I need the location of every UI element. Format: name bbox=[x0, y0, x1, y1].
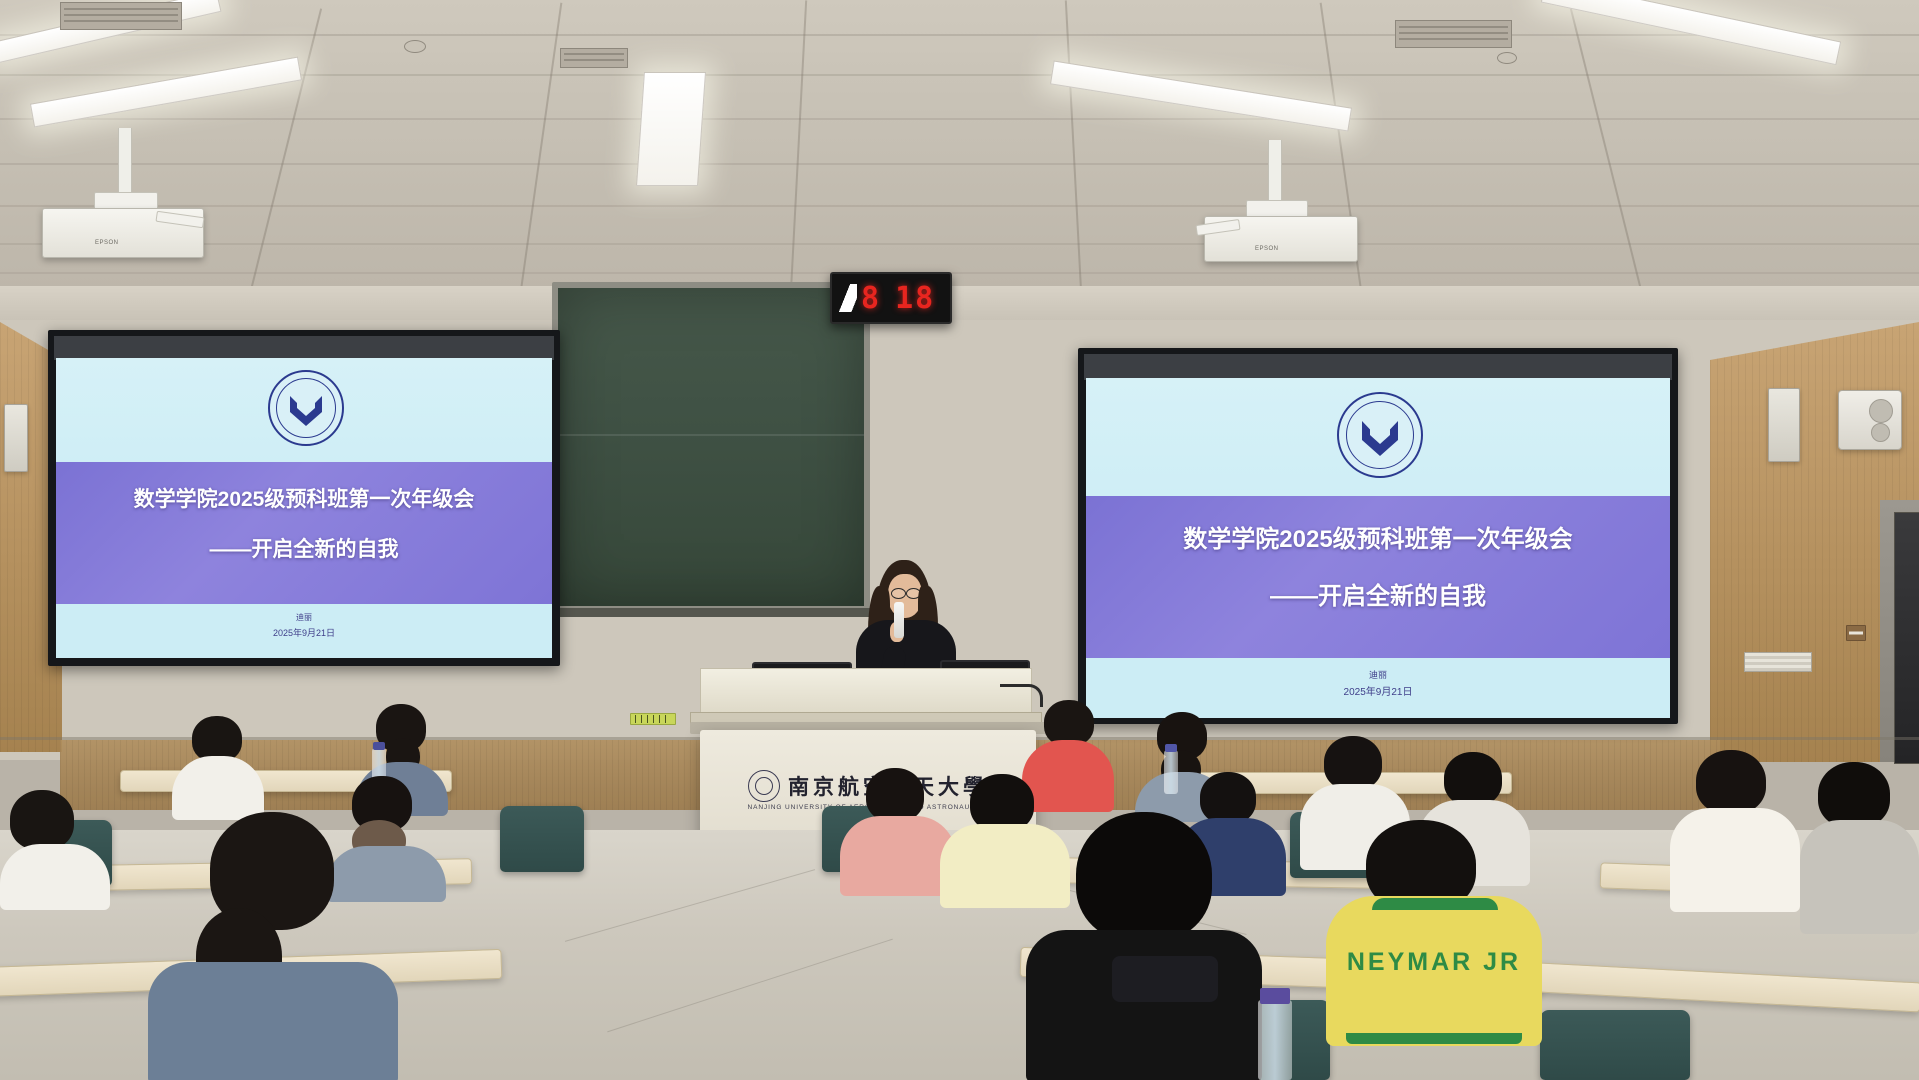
screen-left-sticker bbox=[630, 713, 676, 725]
projector-right: EPSON bbox=[1196, 140, 1396, 270]
screen-right-top-bar bbox=[1084, 354, 1672, 380]
hvac-vent-center bbox=[560, 48, 628, 68]
smoke-detector-left bbox=[404, 40, 426, 53]
wall-panel-left[interactable] bbox=[4, 404, 28, 472]
microphone bbox=[894, 602, 904, 638]
ceiling-light-center bbox=[636, 72, 706, 186]
projector-brand-right: EPSON bbox=[1255, 246, 1279, 252]
school-emblem-right bbox=[1337, 392, 1423, 478]
projector-left: EPSON bbox=[36, 128, 236, 258]
student-body bbox=[1800, 820, 1919, 934]
student-body bbox=[148, 962, 398, 1080]
student-body bbox=[1670, 808, 1800, 912]
door-right[interactable] bbox=[1894, 512, 1919, 764]
student-head bbox=[1076, 812, 1212, 942]
emblem-m-mark-icon bbox=[270, 372, 342, 444]
slide-presenter-right: 迪丽 bbox=[1086, 668, 1670, 681]
student-near-black bbox=[1018, 812, 1268, 1080]
student-near-neymar: NEYMAR JR bbox=[1326, 820, 1542, 1060]
slide-title-left: 数学学院2025级预科班第一次年级会 bbox=[56, 483, 552, 513]
student-far-1 bbox=[170, 716, 266, 820]
bottle-cap-foreground bbox=[1260, 988, 1290, 1004]
student-mid-2 bbox=[0, 790, 110, 910]
chalkboard bbox=[558, 288, 864, 606]
student-head bbox=[1444, 752, 1502, 806]
clock-marker-icon bbox=[837, 284, 857, 312]
wall-outlet-right[interactable] bbox=[1846, 625, 1866, 641]
chair-mid-2[interactable] bbox=[500, 806, 584, 872]
student-head bbox=[1818, 762, 1890, 828]
projector-brand-left: EPSON bbox=[95, 240, 119, 246]
wall-upper-band bbox=[0, 286, 1919, 323]
student-head bbox=[1324, 736, 1382, 790]
slide-date-right: 2025年9月21日 bbox=[1086, 683, 1670, 698]
university-seal-icon bbox=[748, 770, 780, 802]
slide-date-left: 2025年9月21日 bbox=[56, 626, 552, 639]
bottle-cap-1 bbox=[373, 742, 385, 750]
student-body bbox=[172, 756, 264, 820]
student-mid-3-pink bbox=[840, 768, 956, 894]
student-near-denim bbox=[148, 812, 398, 1080]
clock-minute: 18 bbox=[895, 281, 935, 316]
student-head bbox=[10, 790, 74, 850]
wall-control-box-right[interactable] bbox=[1768, 388, 1800, 462]
smoke-detector-right bbox=[1497, 52, 1517, 64]
backpack-on-desk bbox=[1112, 956, 1218, 1002]
slide-presenter-left: 迪丽 bbox=[56, 612, 552, 623]
lecture-hall-scene: EPSON EPSON 818 bbox=[0, 0, 1919, 1080]
clock-hour: 8 bbox=[861, 281, 881, 316]
slide-subtitle-right: ——开启全新的自我 bbox=[1086, 576, 1670, 611]
hvac-vent-right bbox=[1395, 20, 1512, 48]
student-body bbox=[1026, 930, 1262, 1080]
digital-clock: 818 bbox=[830, 272, 952, 324]
jersey-collar bbox=[1372, 898, 1498, 910]
student-body bbox=[840, 816, 956, 896]
student-head bbox=[1696, 750, 1766, 814]
jersey-hem-stripe bbox=[1346, 1033, 1522, 1044]
wall-speaker-right bbox=[1838, 390, 1902, 450]
screen-left-top-bar bbox=[54, 336, 554, 360]
presenter-glasses-left-icon bbox=[891, 588, 906, 599]
slide-subtitle-left: ——开启全新的自我 bbox=[56, 533, 552, 563]
ceiling bbox=[0, 0, 1919, 290]
slide-right: 数学学院2025级预科班第一次年级会 ——开启全新的自我 迪丽 2025年9月2… bbox=[1086, 378, 1670, 718]
chair-near-3[interactable] bbox=[1540, 1010, 1690, 1080]
hvac-vent-left bbox=[60, 2, 182, 30]
student-head bbox=[866, 768, 924, 822]
clock-readout: 818 bbox=[861, 281, 935, 316]
wall-vent-strip-right bbox=[1744, 652, 1812, 672]
chalk-rail bbox=[552, 608, 870, 617]
student-near-right-gray bbox=[1800, 762, 1919, 932]
student-jersey: NEYMAR JR bbox=[1326, 896, 1542, 1046]
emblem-m-mark-icon bbox=[1339, 394, 1421, 476]
lectern-desk bbox=[700, 668, 1032, 718]
jersey-name-text: NEYMAR JR bbox=[1326, 948, 1542, 977]
slide-left: 数学学院2025级预科班第一次年级会 ——开启全新的自我 迪丽 2025年9月2… bbox=[56, 358, 552, 658]
bottle-cap-2 bbox=[1165, 744, 1177, 752]
water-bottle-foreground bbox=[1258, 1000, 1292, 1080]
slide-title-right: 数学学院2025级预科班第一次年级会 bbox=[1086, 519, 1670, 554]
student-near-right-white bbox=[1670, 750, 1800, 910]
school-emblem-left bbox=[268, 370, 344, 446]
student-body bbox=[0, 844, 110, 910]
